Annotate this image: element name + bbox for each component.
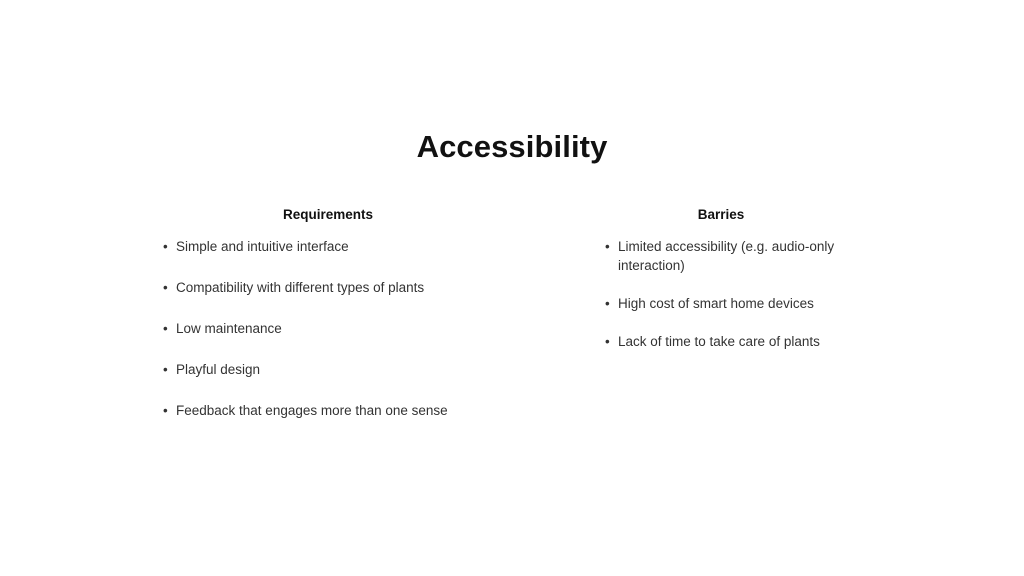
list-item: • High cost of smart home devices [605,294,837,313]
requirements-list: • Simple and intuitive interface • Compa… [163,237,493,421]
bullet-icon: • [163,278,168,297]
bullet-icon: • [163,319,168,338]
bullet-icon: • [163,401,168,420]
list-item: • Compatibility with different types of … [163,278,493,297]
column-requirements: Requirements • Simple and intuitive inte… [163,206,493,420]
list-item-label: Lack of time to take care of plants [618,334,820,349]
slide: Accessibility Requirements • Simple and … [0,0,1024,576]
column-heading-barries: Barries [605,206,837,224]
bullet-icon: • [605,294,610,313]
list-item: • Limited accessibility (e.g. audio-only… [605,237,837,275]
list-item-label: Playful design [176,362,260,377]
column-barries: Barries • Limited accessibility (e.g. au… [605,206,837,370]
list-item: • Low maintenance [163,319,493,338]
column-heading-requirements: Requirements [163,206,493,224]
list-item: • Playful design [163,360,493,379]
barries-list: • Limited accessibility (e.g. audio-only… [605,237,837,352]
list-item: • Simple and intuitive interface [163,237,493,256]
page-title: Accessibility [0,128,1024,165]
list-item-label: High cost of smart home devices [618,296,814,311]
list-item: • Feedback that engages more than one se… [163,401,493,420]
bullet-icon: • [163,360,168,379]
list-item-label: Compatibility with different types of pl… [176,280,424,295]
list-item: • Lack of time to take care of plants [605,332,837,351]
list-item-label: Low maintenance [176,321,282,336]
list-item-label: Simple and intuitive interface [176,239,349,254]
list-item-label: Feedback that engages more than one sens… [176,403,448,418]
bullet-icon: • [605,237,610,256]
bullet-icon: • [605,332,610,351]
bullet-icon: • [163,237,168,256]
list-item-label: Limited accessibility (e.g. audio-only i… [618,239,834,273]
two-column-content: Requirements • Simple and intuitive inte… [0,206,1024,526]
